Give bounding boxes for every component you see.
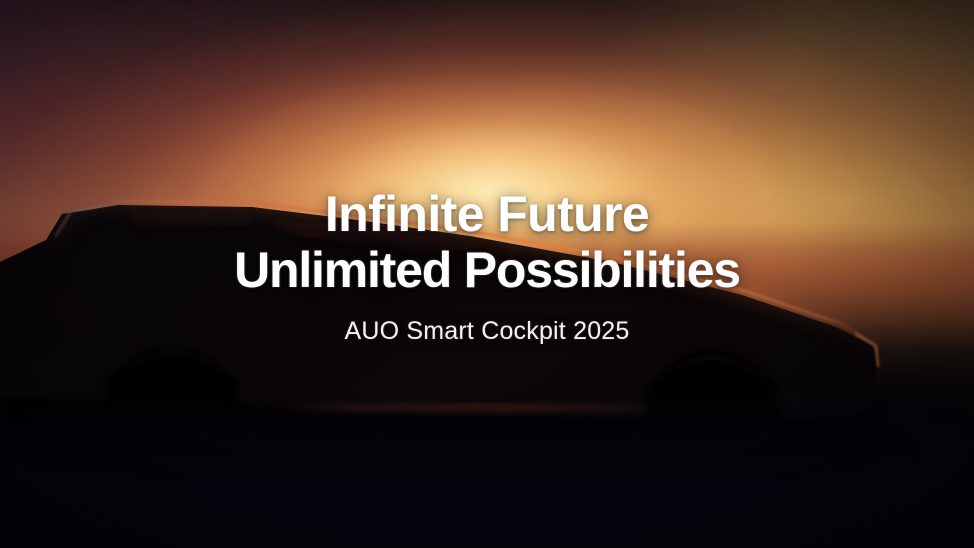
ground-shadow [40,416,900,488]
car-lower-shadow [0,398,878,462]
front-arch-shadow [646,361,778,444]
rear-arch-shadow [106,355,238,440]
subheadline: AUO Smart Cockpit 2025 [0,316,974,346]
title-overlay: Infinite Future Unlimited Possibilities … [0,186,974,346]
front-wheel [654,350,770,466]
headline-line-2: Unlimited Possibilities [0,242,974,298]
rear-wheel [114,346,230,462]
rocker-ember-glow [270,404,690,413]
presentation-slide: Infinite Future Unlimited Possibilities … [0,0,974,548]
headline-line-1: Infinite Future [0,186,974,242]
